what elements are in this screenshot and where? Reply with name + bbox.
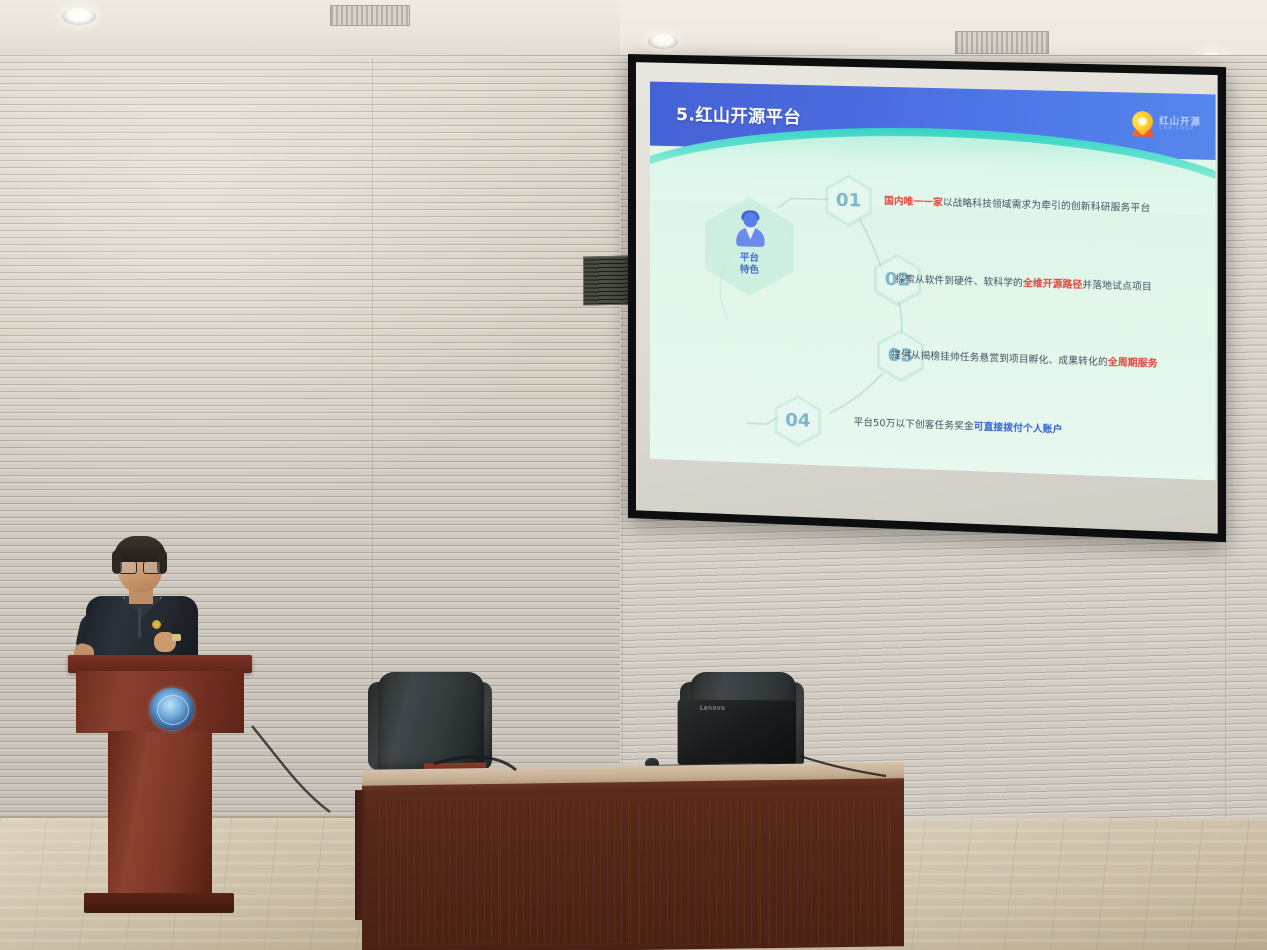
bullet-03-highlight: 全周期服务: [1108, 357, 1158, 370]
slide-content: 5.红山开源平台 红山开源 CNB.COOP: [650, 82, 1216, 481]
ceiling-downlight-2: [648, 34, 678, 49]
person-icon: [734, 212, 766, 247]
head-table-left-side: [355, 790, 365, 920]
projection-screen[interactable]: 5.红山开源平台 红山开源 CNB.COOP: [628, 54, 1226, 542]
desk-panel-4: [768, 800, 891, 946]
monitor-brand-label: Lenovo: [700, 705, 725, 712]
bullet-01-highlight: 国内唯一一家: [884, 196, 943, 209]
lenovo-monitor[interactable]: Lenovo: [678, 700, 798, 772]
bullet-02-highlight: 全维开源路径: [1023, 278, 1082, 291]
presenter-wristwatch: [172, 634, 181, 641]
presenter-lapel-pin: [152, 620, 161, 629]
ceiling-vent-left: [330, 5, 410, 26]
conference-room-photo: 5.红山开源平台 红山开源 CNB.COOP: [0, 0, 1267, 950]
screen-surface: 5.红山开源平台 红山开源 CNB.COOP: [636, 62, 1218, 533]
glasses-icon: [119, 561, 161, 572]
bullet-02-post: 并落地试点项目: [1082, 280, 1152, 293]
chair-left-backrest: [378, 672, 484, 772]
monitor-screen-back: Lenovo: [678, 699, 797, 764]
center-label-line2: 特色: [712, 263, 787, 277]
podium-base: [84, 893, 234, 913]
ceiling-downlight-1: [62, 8, 96, 25]
desk-panel-1: [378, 800, 501, 946]
presenter-shirt-placket: [138, 608, 141, 638]
desk-panel-3: [638, 800, 761, 946]
ceiling-vent-right: [955, 31, 1049, 54]
wall-seam-2: [622, 150, 623, 818]
center-hexagon-label: 平台 特色: [712, 251, 787, 277]
desk-panel-2: [508, 800, 631, 946]
podium-column: [108, 731, 212, 899]
podium-institution-emblem: [150, 688, 194, 730]
